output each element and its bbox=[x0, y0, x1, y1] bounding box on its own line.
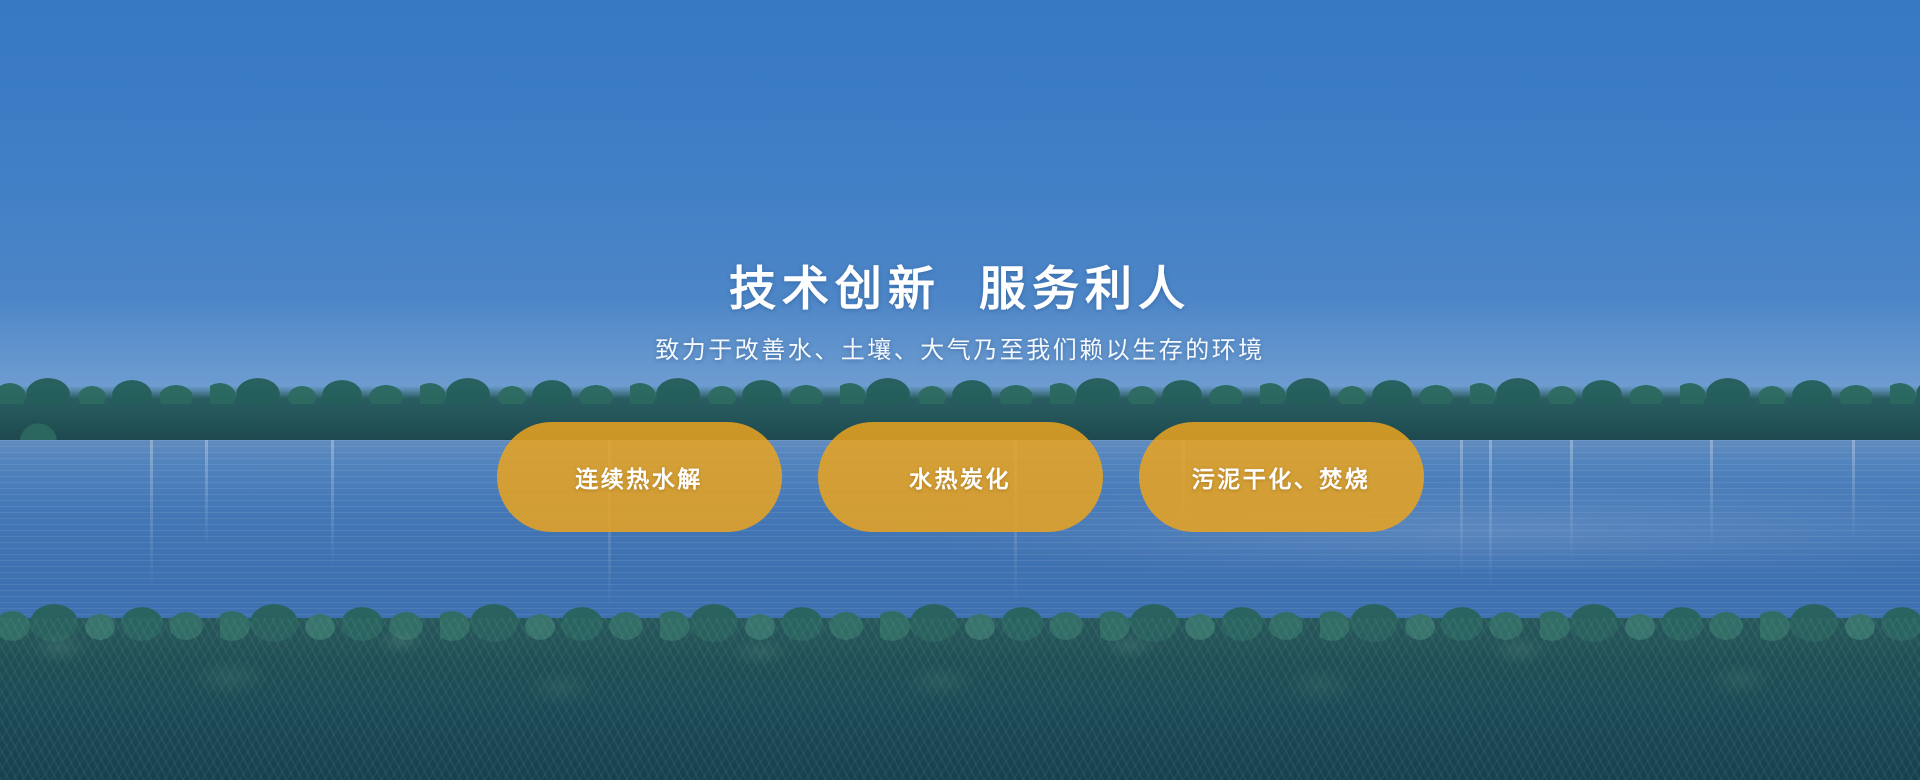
service-button-continuous-thermal-hydrolysis[interactable]: 连续热水解 bbox=[497, 422, 782, 532]
hero-headline: 技术创新 服务利人 bbox=[729, 262, 1191, 316]
service-button-row: 连续热水解 水热炭化 污泥干化、焚烧 bbox=[497, 422, 1424, 532]
hero-banner: 技术创新 服务利人 致力于改善水、土壤、大气乃至我们赖以生存的环境 连续热水解 … bbox=[0, 0, 1920, 780]
service-button-hydrothermal-carbonization[interactable]: 水热炭化 bbox=[818, 422, 1103, 532]
hero-subheadline: 致力于改善水、土壤、大气乃至我们赖以生存的环境 bbox=[655, 330, 1265, 365]
hero-content: 技术创新 服务利人 致力于改善水、土壤、大气乃至我们赖以生存的环境 连续热水解 … bbox=[0, 0, 1920, 780]
service-button-sludge-drying-incineration[interactable]: 污泥干化、焚烧 bbox=[1139, 422, 1424, 532]
